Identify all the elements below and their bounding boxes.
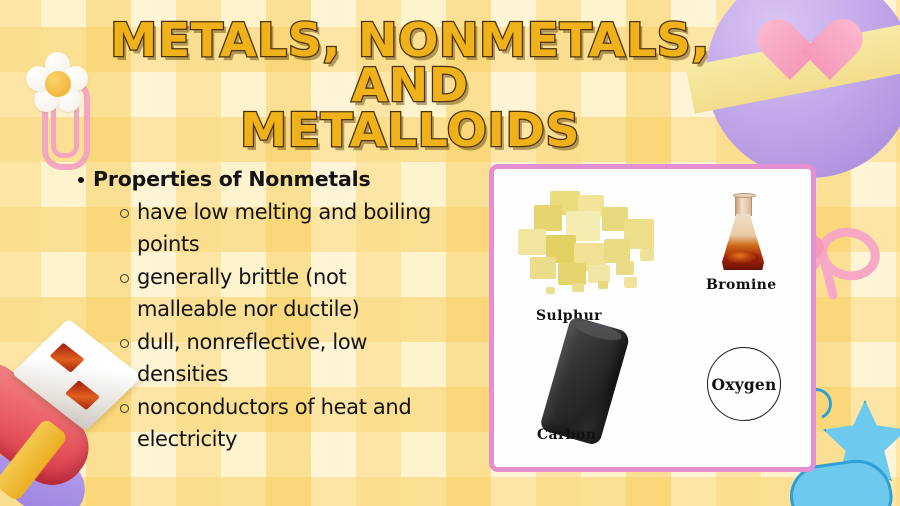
- list-item-label: generally brittle (not malleable nor duc…: [137, 262, 447, 326]
- carbon-label: Carbon: [537, 427, 596, 443]
- list-item-label: nonconductors of heat and electricity: [137, 392, 447, 456]
- presentation-slide: METALS, NONMETALS, AND METALLOIDS Proper…: [0, 0, 900, 506]
- oxygen-circle: Oxygen: [707, 347, 781, 421]
- bullet-heading-label: Properties of Nonmetals: [93, 166, 370, 192]
- list-item-label: have low melting and boiling points: [137, 197, 447, 261]
- bullet-ring-icon: [120, 274, 129, 283]
- sub-bullet-list: have low melting and boiling points gene…: [78, 197, 478, 455]
- oxygen-label: Oxygen: [712, 375, 777, 394]
- title-line-1: METALS, NONMETALS, AND: [110, 13, 710, 112]
- bullet-heading: Properties of Nonmetals: [78, 166, 478, 192]
- bullet-ring-icon: [120, 209, 129, 218]
- content-bullets: Properties of Nonmetals have low melting…: [78, 166, 478, 456]
- page-title: METALS, NONMETALS, AND METALLOIDS: [50, 18, 771, 153]
- bullet-ring-icon: [120, 404, 129, 413]
- bullet-dot-icon: [78, 177, 84, 183]
- list-item: have low melting and boiling points: [78, 197, 478, 261]
- list-item: nonconductors of heat and electricity: [78, 392, 478, 456]
- sulphur-sample-image: [512, 191, 682, 303]
- bromine-flask-image: [720, 194, 766, 272]
- list-item-label: dull, nonreflective, low densities: [137, 327, 447, 391]
- bromine-label: Bromine: [706, 277, 777, 293]
- list-item: generally brittle (not malleable nor duc…: [78, 262, 478, 326]
- bullet-ring-icon: [120, 339, 129, 348]
- nonmetals-figure-panel: Sulphur Carbon Bromine Oxygen: [489, 164, 816, 472]
- title-line-2: METALLOIDS: [50, 108, 771, 153]
- list-item: dull, nonreflective, low densities: [78, 327, 478, 391]
- figure-canvas: Sulphur Carbon Bromine Oxygen: [494, 169, 811, 467]
